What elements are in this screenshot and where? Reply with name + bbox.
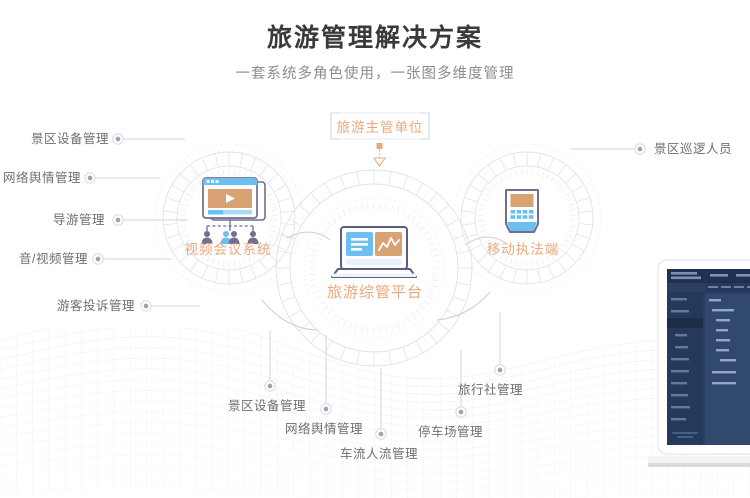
- bottom-connectors: [265, 312, 505, 439]
- handheld-terminal-icon: [506, 190, 538, 232]
- left-label-0[interactable]: 景区设备管理: [0, 133, 109, 146]
- device-mock-laptop: [648, 254, 750, 498]
- node-label-mobile[interactable]: 移动执法端: [468, 243, 578, 257]
- video-conference-icon: [202, 178, 266, 244]
- bottom-label-4[interactable]: 旅行社管理: [458, 384, 523, 397]
- left-label-1[interactable]: 网络舆情管理: [0, 172, 81, 185]
- bottom-label-2[interactable]: 车流人流管理: [340, 448, 418, 461]
- page-subtitle: 一套系统多角色使用，一张图多维度管理: [0, 67, 750, 82]
- bottom-label-1[interactable]: 网络舆情管理: [285, 423, 363, 436]
- left-label-3[interactable]: 音/视频管理: [0, 253, 88, 266]
- solution-infographic: 旅游管理解决方案 一套系统多角色使用，一张图多维度管理: [0, 0, 750, 498]
- governing-unit-label[interactable]: 旅游主管单位: [331, 113, 429, 139]
- bottom-label-0[interactable]: 景区设备管理: [228, 400, 306, 413]
- left-label-4[interactable]: 游客投诉管理: [0, 300, 135, 313]
- right-connectors: [570, 144, 645, 154]
- page-title: 旅游管理解决方案: [0, 26, 750, 51]
- left-label-2[interactable]: 导游管理: [0, 214, 105, 227]
- dotted-down-arrow-icon: [374, 143, 385, 166]
- node-label-video[interactable]: 视频会议系统: [168, 243, 288, 257]
- header: 旅游管理解决方案 一套系统多角色使用，一张图多维度管理: [0, 0, 750, 82]
- laptop-dashboard-icon: [332, 227, 416, 277]
- right-label-0[interactable]: 景区巡逻人员: [654, 143, 732, 156]
- bottom-label-3[interactable]: 停车场管理: [418, 426, 483, 439]
- node-label-platform[interactable]: 旅游综管平台: [312, 285, 438, 300]
